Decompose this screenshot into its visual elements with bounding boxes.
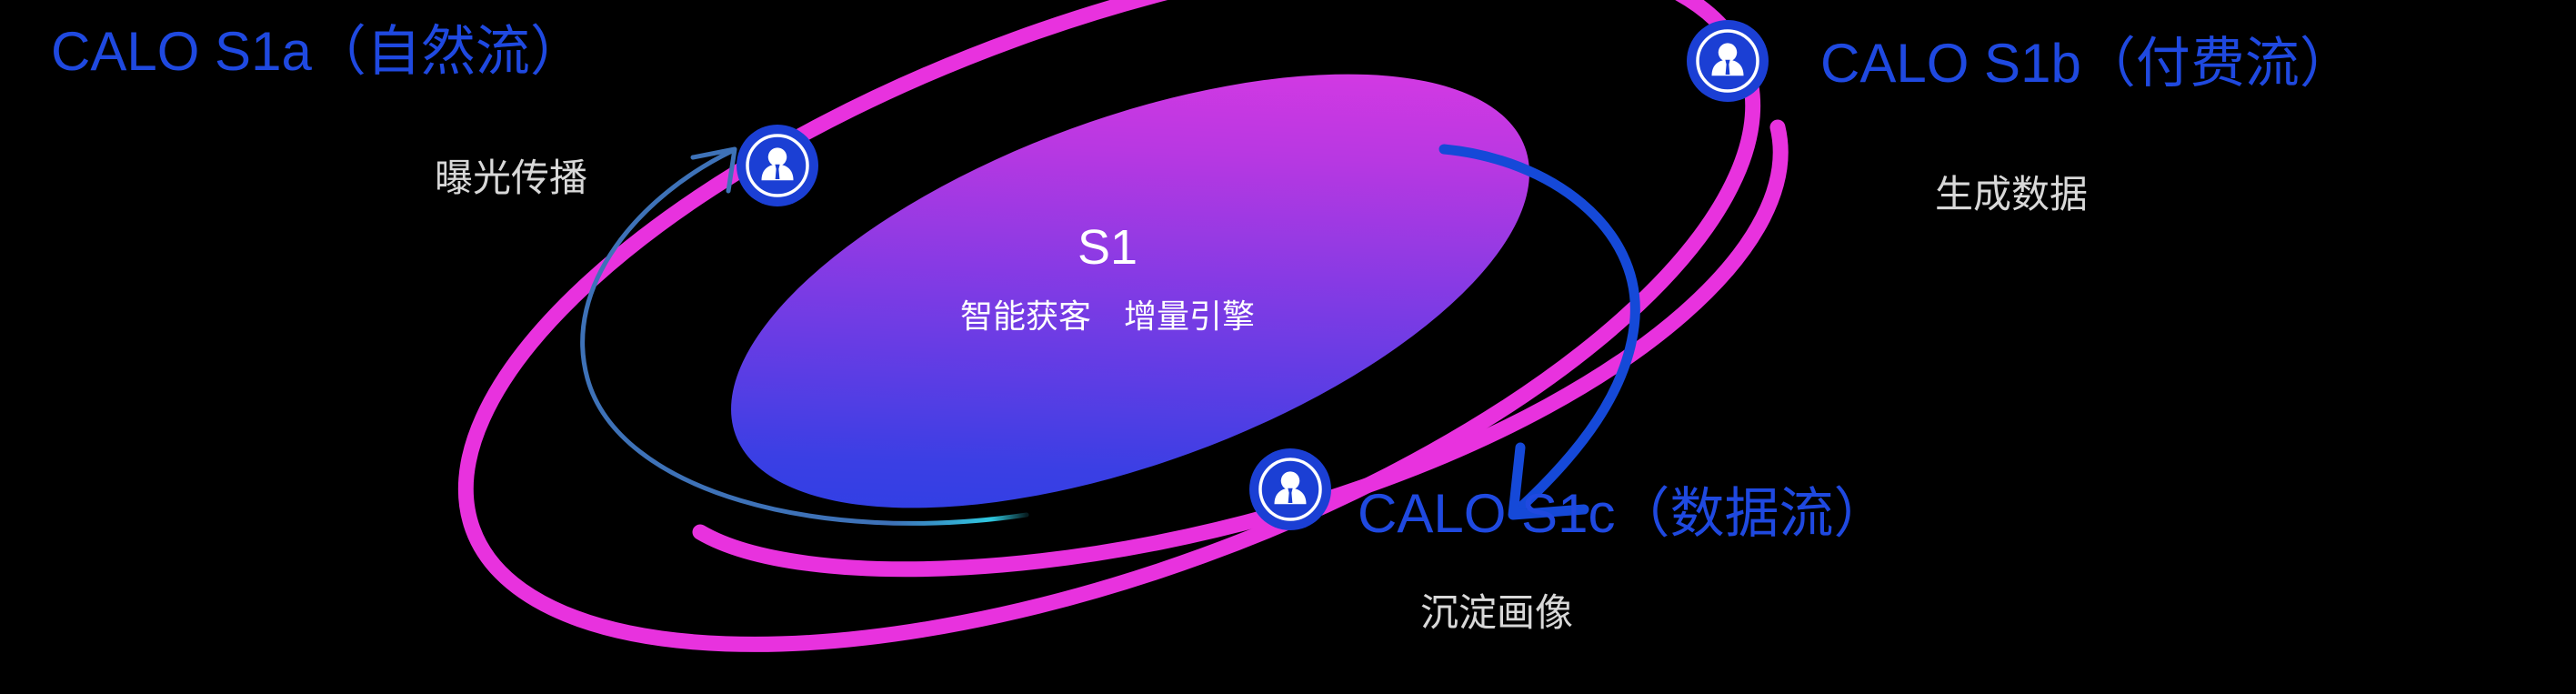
- node-title-s1c: CALO S1c（数据流）: [1358, 487, 1888, 541]
- node-title-s1a: CALO S1a（自然流）: [51, 25, 585, 79]
- node-badge-s1b[interactable]: [1687, 20, 1769, 102]
- node-subtitle-s1c: 沉淀画像: [1420, 594, 1573, 632]
- node-title-s1b: CALO S1b（付费流）: [1820, 36, 2354, 91]
- node-badge-s1c[interactable]: [1249, 448, 1331, 530]
- core-title: S1: [1078, 220, 1138, 275]
- node-subtitle-s1b: 生成数据: [1935, 176, 2088, 214]
- node-subtitle-s1a: 曝光传播: [435, 159, 587, 197]
- orbit-diagram-canvas: S1 智能获客 增量引擎 CALO S1a（自然流） 曝光传播 CALO S1b…: [0, 0, 2576, 694]
- node-badge-s1a[interactable]: [737, 125, 818, 206]
- core-subtitle: 智能获客 增量引擎: [960, 297, 1255, 335]
- diagram-graphics: S1 智能获客 增量引擎: [0, 0, 2576, 694]
